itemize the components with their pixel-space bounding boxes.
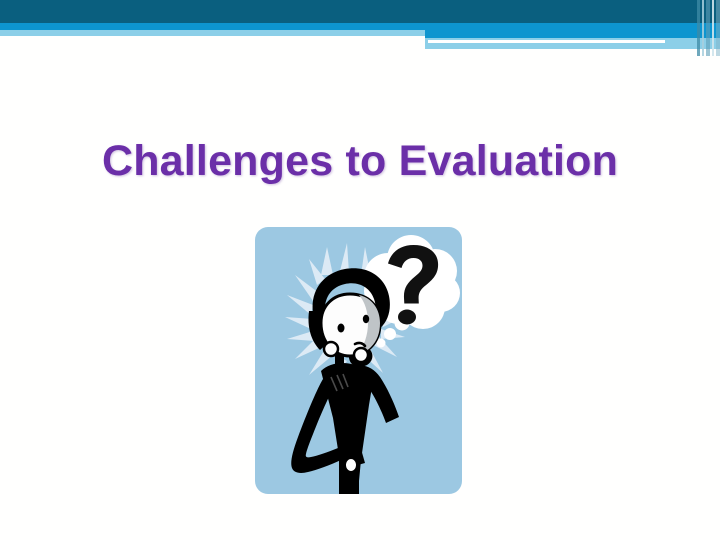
figure-eye-right-icon: [363, 315, 369, 323]
banner-light-band-tail: [425, 42, 580, 49]
banner-mid-band: [0, 23, 720, 30]
figure-body-icon: [291, 346, 399, 494]
banner-edge-stripe-2: [702, 0, 704, 56]
banner-dark-band: [0, 0, 720, 23]
figure-eye-left-icon: [338, 324, 345, 333]
figure-hip-hand-icon: [345, 458, 357, 472]
banner-edge-stripe-5: [716, 0, 720, 56]
banner-mid-band-step: [425, 30, 720, 38]
thinking-person-icon: [255, 227, 462, 494]
slide-title: Challenges to Evaluation: [0, 132, 720, 190]
banner-light-band-left: [0, 30, 425, 36]
figure-hand-knuckle-icon: [354, 348, 368, 362]
slide: Challenges to Evaluation: [0, 0, 720, 540]
banner-edge-stripe-4: [712, 0, 714, 56]
figure-chin-icon: [324, 342, 338, 356]
banner-edge-stripe-1: [697, 0, 700, 56]
banner-white-accent-line: [428, 40, 665, 43]
top-banner: [0, 0, 720, 56]
thinking-person-image: [255, 227, 462, 494]
banner-edge-stripe-3: [706, 0, 710, 56]
